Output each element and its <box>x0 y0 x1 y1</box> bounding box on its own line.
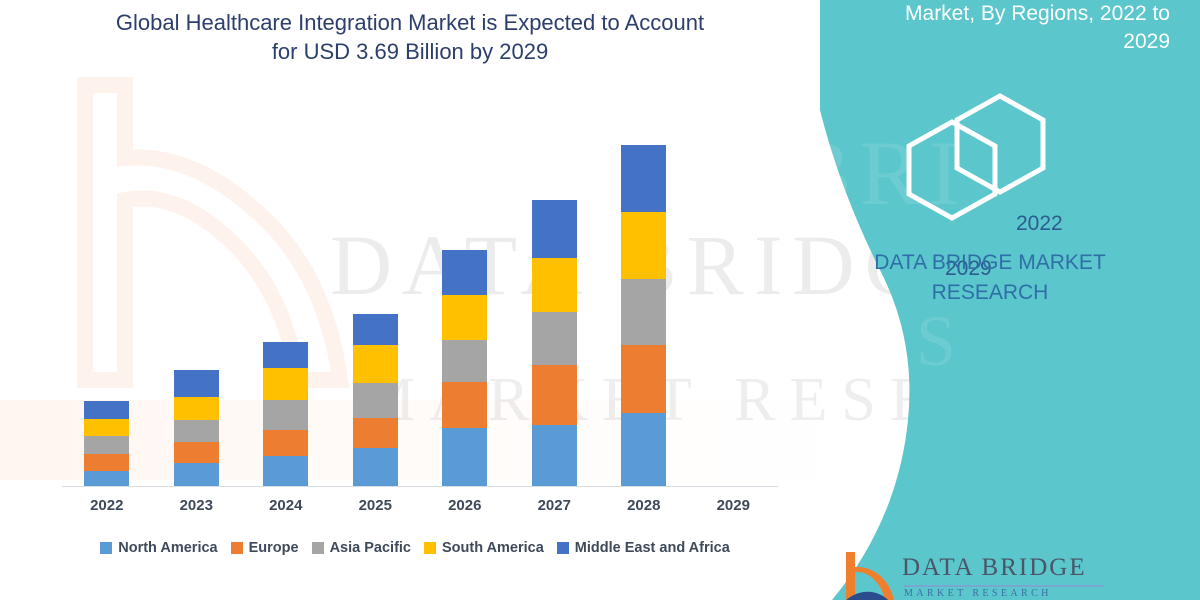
stacked-bar[interactable] <box>263 342 308 486</box>
bar-segment[interactable] <box>174 420 219 442</box>
bar-segment[interactable] <box>174 463 219 486</box>
bar-segment[interactable] <box>263 430 308 456</box>
x-axis-tick-label: 2027 <box>510 497 600 514</box>
legend-swatch-icon <box>312 542 324 554</box>
footer-logo-subtitle: MARKET RESEARCH <box>904 588 1052 599</box>
right-panel: BRI RES Global Healthcare Integration Ma… <box>780 0 1200 600</box>
bar-segment[interactable] <box>621 145 666 212</box>
stacked-bar[interactable] <box>442 250 487 486</box>
bar-segment[interactable] <box>532 200 577 258</box>
x-axis-line <box>62 486 778 487</box>
legend-item[interactable]: South America <box>424 540 544 556</box>
footer-logo-rule <box>904 585 1104 587</box>
panel-title: Global Healthcare Integration Market, By… <box>840 0 1170 56</box>
bar-slot <box>689 110 779 486</box>
legend-item[interactable]: Europe <box>231 540 299 556</box>
bar-segment[interactable] <box>353 448 398 486</box>
bar-slot <box>510 110 600 486</box>
bar-segment[interactable] <box>84 436 129 454</box>
bar-segment[interactable] <box>263 400 308 430</box>
bar-segment[interactable] <box>353 345 398 383</box>
x-axis-tick-label: 2022 <box>62 497 152 514</box>
bar-segment[interactable] <box>532 365 577 425</box>
hexagon-label-near: 2022 <box>1016 212 1063 236</box>
infographic-root: DATA BRIDGE MARKET RESEARCH BRI RES Glob… <box>0 0 1200 600</box>
bar-segment[interactable] <box>174 370 219 397</box>
hexagon-icons <box>900 92 1090 222</box>
x-axis-tick-label: 2028 <box>599 497 689 514</box>
x-axis-tick-label: 2023 <box>152 497 242 514</box>
bar-segment[interactable] <box>532 258 577 312</box>
bar-segment[interactable] <box>263 368 308 400</box>
bar-segment[interactable] <box>84 471 129 486</box>
page-title-line2: for USD 3.69 Billion by 2029 <box>60 37 760 66</box>
panel-brand: DATA BRIDGE MARKET RESEARCH <box>780 248 1200 308</box>
legend-item[interactable]: Middle East and Africa <box>557 540 730 556</box>
bar-slot <box>62 110 152 486</box>
bar-segment[interactable] <box>263 342 308 368</box>
bar-segment[interactable] <box>442 295 487 340</box>
legend-swatch-icon <box>231 542 243 554</box>
bar-segment[interactable] <box>532 312 577 365</box>
page-title-line1: Global Healthcare Integration Market is … <box>60 8 760 37</box>
legend-swatch-icon <box>424 542 436 554</box>
stacked-bar[interactable] <box>84 401 129 486</box>
x-axis-tick-label: 2025 <box>331 497 421 514</box>
bar-segment[interactable] <box>621 345 666 413</box>
bar-group <box>62 110 778 486</box>
x-axis-tick-label: 2026 <box>420 497 510 514</box>
bridge-logo-icon <box>838 550 894 600</box>
x-axis-tick-label: 2029 <box>689 497 779 514</box>
bar-slot <box>420 110 510 486</box>
stacked-bar[interactable] <box>621 145 666 486</box>
bar-segment[interactable] <box>263 456 308 486</box>
stacked-bar[interactable] <box>532 200 577 486</box>
bar-segment[interactable] <box>174 397 219 420</box>
legend-item[interactable]: Asia Pacific <box>312 540 411 556</box>
bar-segment[interactable] <box>84 401 129 419</box>
page-title: Global Healthcare Integration Market is … <box>60 8 760 67</box>
hexagon-group: 2022 2029 <box>900 92 1090 222</box>
bar-slot <box>152 110 242 486</box>
stacked-bar[interactable] <box>174 370 219 486</box>
bar-segment[interactable] <box>353 314 398 345</box>
bar-segment[interactable] <box>532 425 577 486</box>
chart: 20222023202420252026202720282029 <box>0 0 800 600</box>
legend-label: North America <box>118 540 217 556</box>
bar-segment[interactable] <box>442 382 487 428</box>
legend-label: South America <box>442 540 544 556</box>
bar-segment[interactable] <box>621 212 666 279</box>
bar-segment[interactable] <box>353 383 398 418</box>
bar-slot <box>331 110 421 486</box>
bar-segment[interactable] <box>442 340 487 382</box>
panel-title-line2: Market, By Regions, 2022 to <box>840 0 1170 28</box>
footer-logo-name: DATA BRIDGE <box>902 554 1087 582</box>
x-axis-labels: 20222023202420252026202720282029 <box>62 497 778 514</box>
bar-segment[interactable] <box>353 418 398 448</box>
stacked-bar[interactable] <box>353 314 398 486</box>
panel-brand-line2: RESEARCH <box>780 278 1200 308</box>
panel-title-line3: 2029 <box>840 28 1170 56</box>
legend-swatch-icon <box>100 542 112 554</box>
bar-segment[interactable] <box>621 413 666 486</box>
bar-segment[interactable] <box>442 428 487 486</box>
legend-label: Middle East and Africa <box>575 540 730 556</box>
panel-brand-line1: DATA BRIDGE MARKET <box>780 248 1200 278</box>
bar-segment[interactable] <box>621 279 666 345</box>
bar-segment[interactable] <box>174 442 219 463</box>
bar-slot <box>241 110 331 486</box>
bar-segment[interactable] <box>84 454 129 471</box>
legend-label: Asia Pacific <box>330 540 411 556</box>
x-axis-tick-label: 2024 <box>241 497 331 514</box>
bar-slot <box>599 110 689 486</box>
legend-item[interactable]: North America <box>100 540 217 556</box>
bar-segment[interactable] <box>84 419 129 436</box>
bar-segment[interactable] <box>442 250 487 295</box>
legend-label: Europe <box>249 540 299 556</box>
chart-legend: North AmericaEuropeAsia PacificSouth Ame… <box>50 540 780 556</box>
footer-logo: DATA BRIDGE MARKET RESEARCH <box>838 550 1168 600</box>
legend-swatch-icon <box>557 542 569 554</box>
